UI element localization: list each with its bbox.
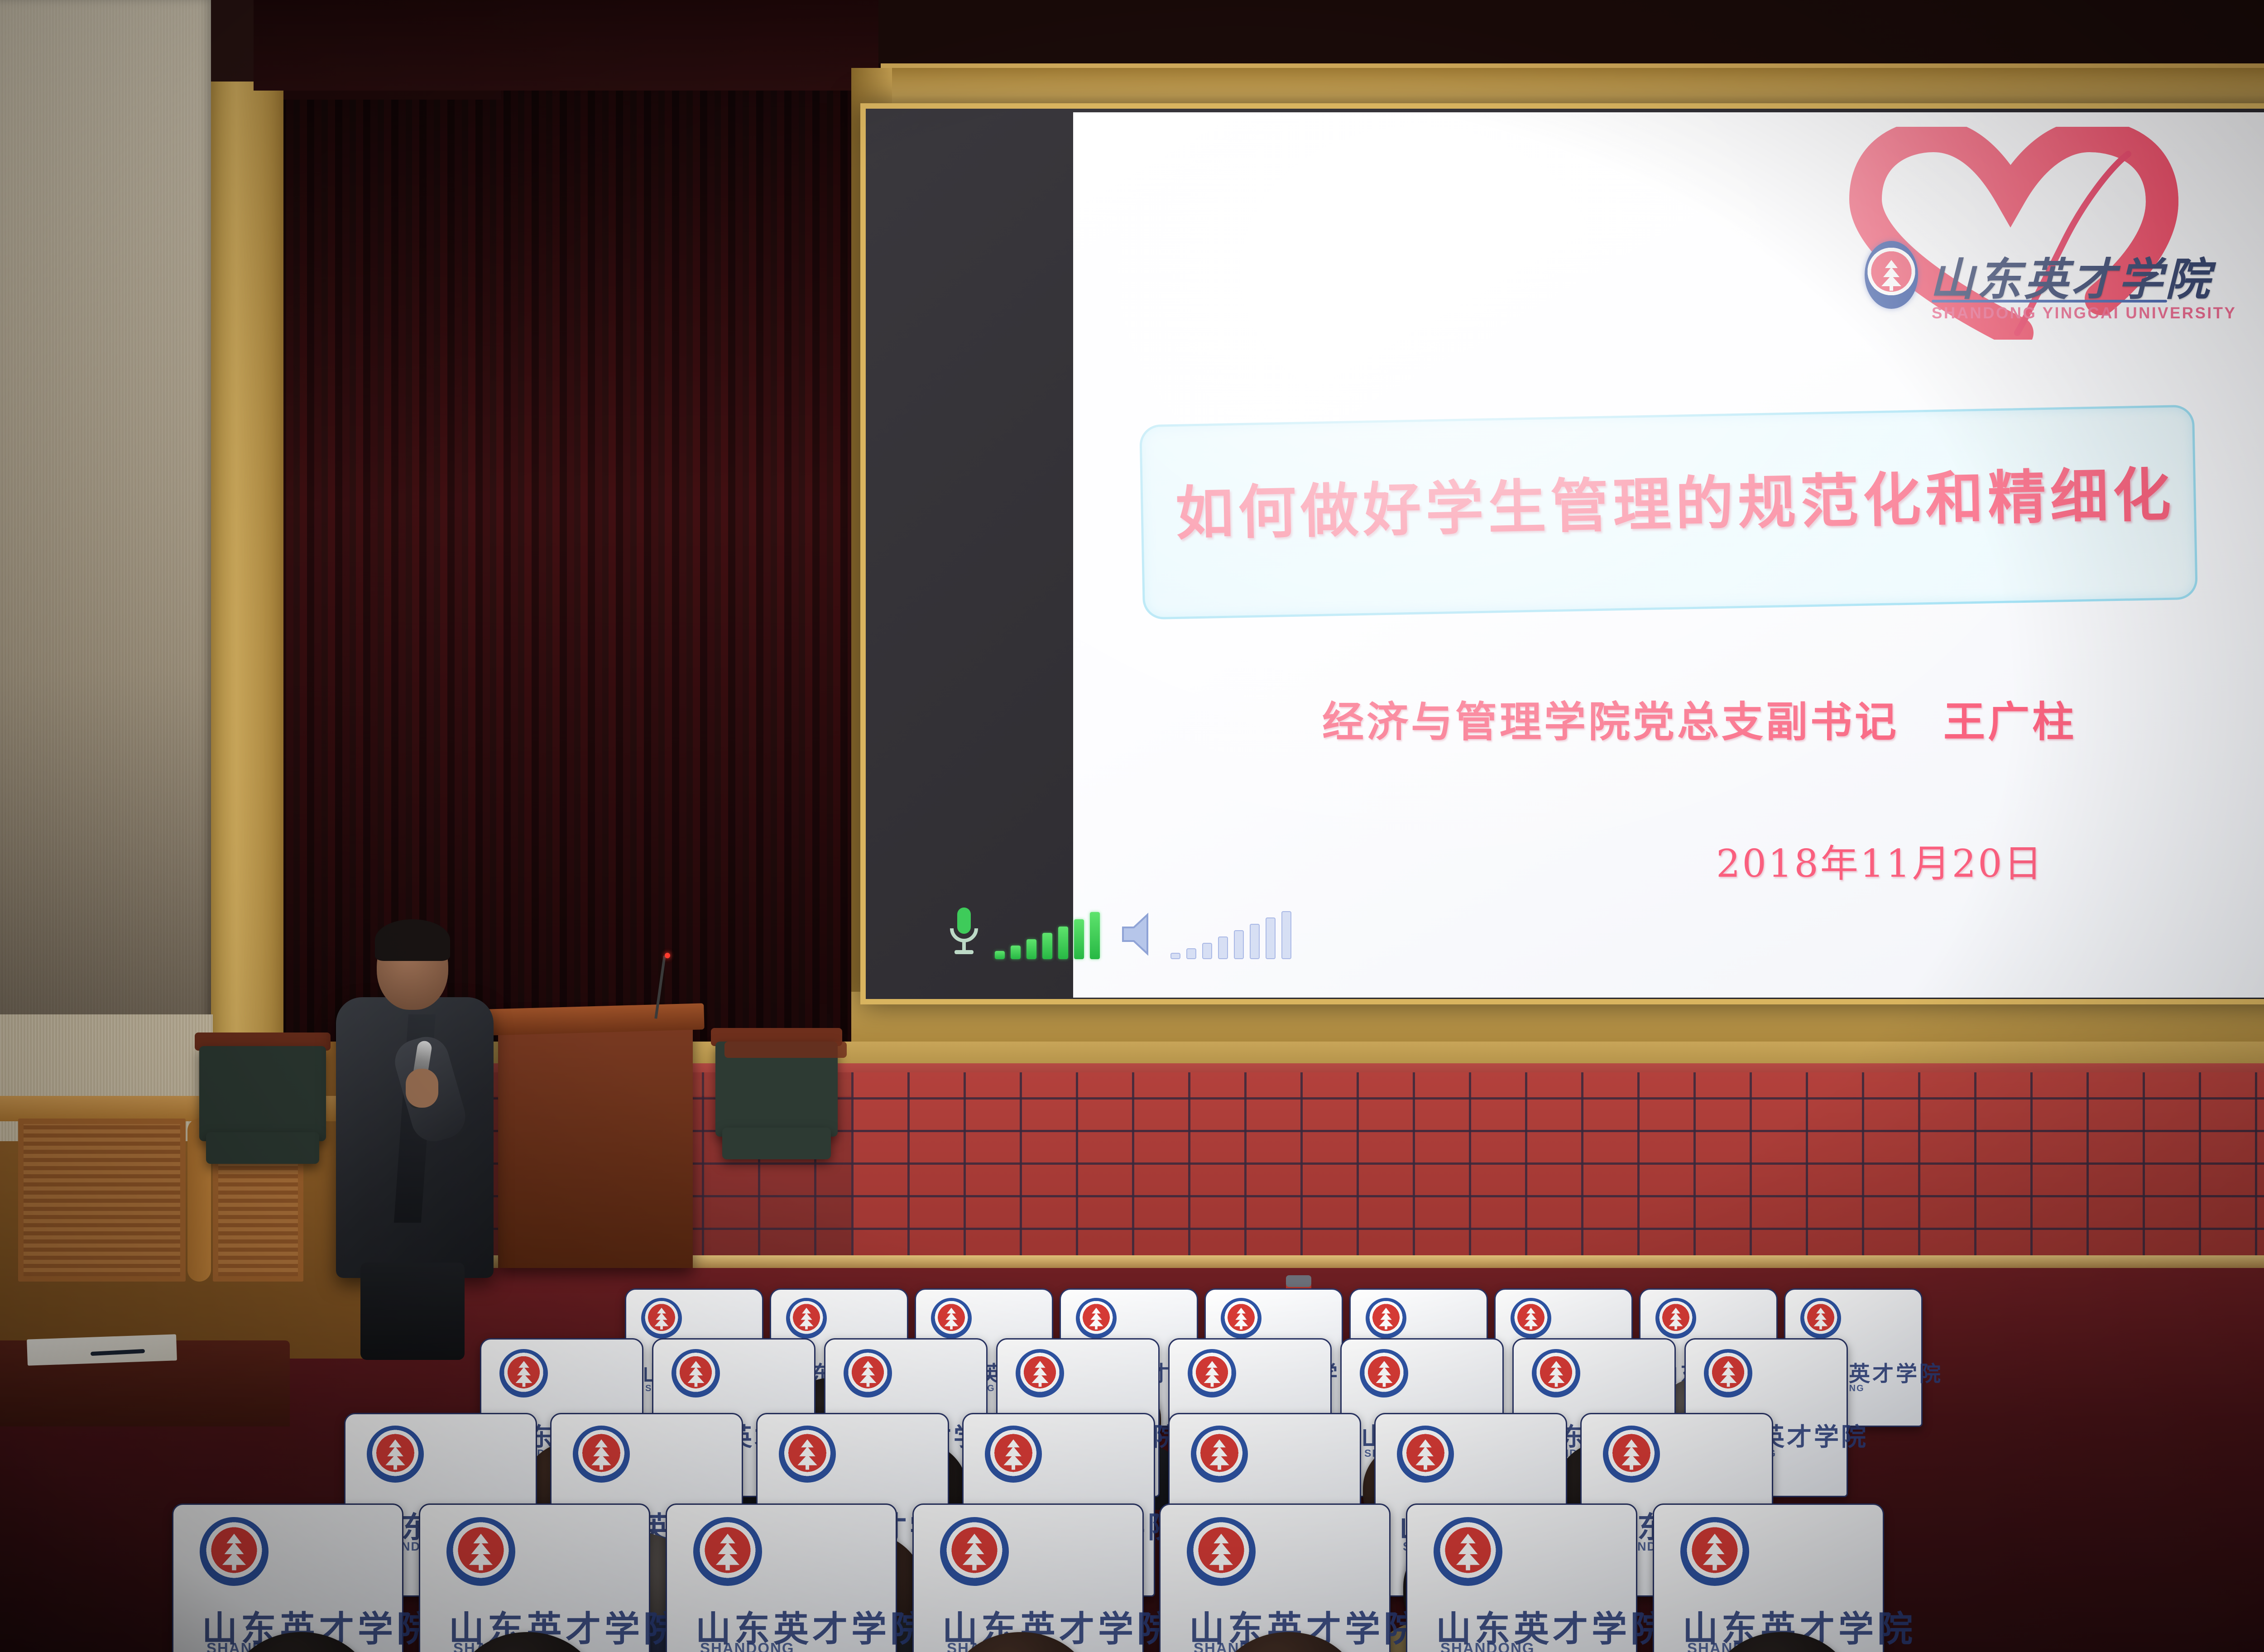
seat-university-crest-icon [779, 1426, 836, 1483]
stage-chair-seat [722, 1128, 831, 1159]
gold-column [211, 0, 283, 1100]
mic-bar-4 [1042, 933, 1052, 959]
seat-university-crest-icon [573, 1426, 630, 1483]
crest-tree-icon [1812, 1306, 1830, 1330]
seat-university-crest-icon [446, 1517, 515, 1586]
crest-tree-icon [1373, 1359, 1395, 1388]
seat-university-crest-icon [1076, 1298, 1117, 1339]
lectern [498, 1014, 693, 1268]
presenter-figure [317, 924, 507, 1359]
crest-tree-icon [712, 1532, 743, 1571]
seat-university-crest-icon [1532, 1349, 1580, 1397]
stage-chair-frame [724, 1042, 847, 1058]
crest-tree-icon [959, 1532, 990, 1571]
volume-level-meter [1118, 905, 1291, 959]
seat-university-crest-icon [1655, 1298, 1696, 1339]
seat-university-crest-icon [786, 1298, 827, 1339]
university-logo: 山东英才学院 SHANDONG YINGCAI UNIVERSITY [1811, 127, 2219, 340]
crest-tree-icon [1717, 1359, 1739, 1388]
crest-tree-icon [1029, 1359, 1051, 1388]
seat-university-crest-icon [641, 1298, 682, 1339]
crest-tree-icon [685, 1359, 707, 1388]
logo-english-name: SHANDONG YINGCAI UNIVERSITY [1932, 304, 2176, 322]
seat-university-crest-icon [1366, 1298, 1406, 1339]
slide-date: 2018年11月20日 [1716, 833, 2169, 888]
seat-cover-english-text: SHANDONG [700, 1640, 795, 1652]
seat-university-crest-icon [1188, 1349, 1236, 1397]
vol-bar-3 [1202, 943, 1212, 959]
vol-bar-7 [1266, 917, 1276, 959]
mic-bar-5 [1058, 927, 1068, 959]
crest-tree-icon [797, 1306, 816, 1330]
crest-tree-icon [1377, 1306, 1396, 1330]
seat-university-crest-icon [931, 1298, 972, 1339]
seat-university-crest-icon [1434, 1517, 1502, 1586]
vol-bar-6 [1250, 924, 1260, 959]
crest-tree-icon [1201, 1359, 1223, 1388]
mic-bar-1 [995, 951, 1005, 959]
crest-tree-icon [1545, 1359, 1567, 1388]
mic-bar-7 [1090, 912, 1100, 959]
speaker-icon [1118, 909, 1157, 959]
seat-university-crest-icon [1191, 1426, 1248, 1483]
crest-tree-icon [1001, 1438, 1026, 1471]
seat-university-crest-icon [1511, 1298, 1551, 1339]
seat-university-crest-icon [200, 1517, 269, 1586]
curtain-valance [254, 0, 878, 91]
brick-wall [851, 1072, 2264, 1263]
louver-vent-panel [18, 1119, 186, 1282]
seat-university-crest-icon [985, 1426, 1042, 1483]
seat-university-crest-icon [1221, 1298, 1262, 1339]
mic-bar-2 [1011, 946, 1021, 959]
crest-tree-icon [1699, 1532, 1730, 1571]
presenter-hand [406, 1069, 438, 1108]
vol-bar-8 [1281, 911, 1291, 959]
seat-university-crest-icon [499, 1349, 548, 1397]
seat-university-crest-icon [1360, 1349, 1408, 1397]
microphone-level-meter [946, 905, 1100, 959]
crest-tree-icon [1453, 1532, 1483, 1571]
crest-tree-icon [1619, 1438, 1645, 1471]
seat-university-crest-icon [1603, 1426, 1660, 1483]
vol-bar-4 [1218, 936, 1228, 959]
mic-bar-3 [1026, 939, 1036, 959]
seat-university-crest-icon [1680, 1517, 1749, 1586]
logo-chinese-name: 山东英才学院 [1930, 244, 2183, 308]
seat-university-crest-icon [1704, 1349, 1752, 1397]
presenter-hair [375, 919, 450, 961]
presenter-legs [360, 1263, 465, 1360]
lecture-hall-photo: 山东英才学院 SHANDONG YINGCAI UNIVERSITY 如何做好学… [0, 0, 2264, 1652]
stage-chair-seat [206, 1132, 319, 1164]
crest-tree-icon [857, 1359, 879, 1388]
seat-university-crest-icon [367, 1426, 424, 1483]
university-crest-icon [1865, 241, 1918, 309]
crest-tree-icon [1206, 1532, 1237, 1571]
crest-tree-icon [1667, 1306, 1685, 1330]
crest-tree-icon [589, 1438, 614, 1471]
curtain-shadow [181, 63, 881, 1042]
seat-cover-english-text: SHANDONG [1440, 1640, 1535, 1652]
crest-tree-icon [1207, 1438, 1233, 1471]
seat-university-crest-icon [1187, 1517, 1256, 1586]
crest-tree-icon [942, 1306, 961, 1330]
microphone-icon [946, 905, 982, 959]
thermos-cap [1286, 1275, 1311, 1287]
seat-university-crest-icon [672, 1349, 720, 1397]
seat-university-crest-icon [1397, 1426, 1454, 1483]
seat-university-crest-icon [1016, 1349, 1064, 1397]
crest-tree-icon [1522, 1306, 1540, 1330]
vol-bar-2 [1186, 948, 1196, 959]
crest-tree-icon [219, 1532, 249, 1571]
seat-university-crest-icon [844, 1349, 892, 1397]
crest-tree-icon [1413, 1438, 1439, 1471]
seat-university-crest-icon [693, 1517, 762, 1586]
crest-tree-icon [383, 1438, 408, 1471]
left-wall-shading [0, 0, 213, 1119]
vol-bar-1 [1170, 953, 1180, 959]
logo-divider [1932, 300, 2167, 303]
mic-bar-6 [1074, 919, 1084, 959]
crest-tree-icon [795, 1438, 820, 1471]
crest-tree-icon [1232, 1306, 1251, 1330]
stage-chair [199, 1046, 326, 1141]
microphone-led [665, 953, 670, 958]
crest-tree-icon [465, 1532, 496, 1571]
seat-university-crest-icon [940, 1517, 1009, 1586]
seat-university-crest-icon [1800, 1298, 1841, 1339]
desk-papers [27, 1334, 177, 1365]
slide-presenter-line: 经济与管理学院党总支副书记 王广柱 [1322, 688, 2264, 749]
crest-tree-icon [1087, 1306, 1106, 1330]
crest-tree-icon [513, 1359, 535, 1388]
vol-bar-5 [1234, 930, 1244, 959]
crest-tree-icon [652, 1306, 671, 1330]
crest-tree-icon [1880, 258, 1903, 292]
